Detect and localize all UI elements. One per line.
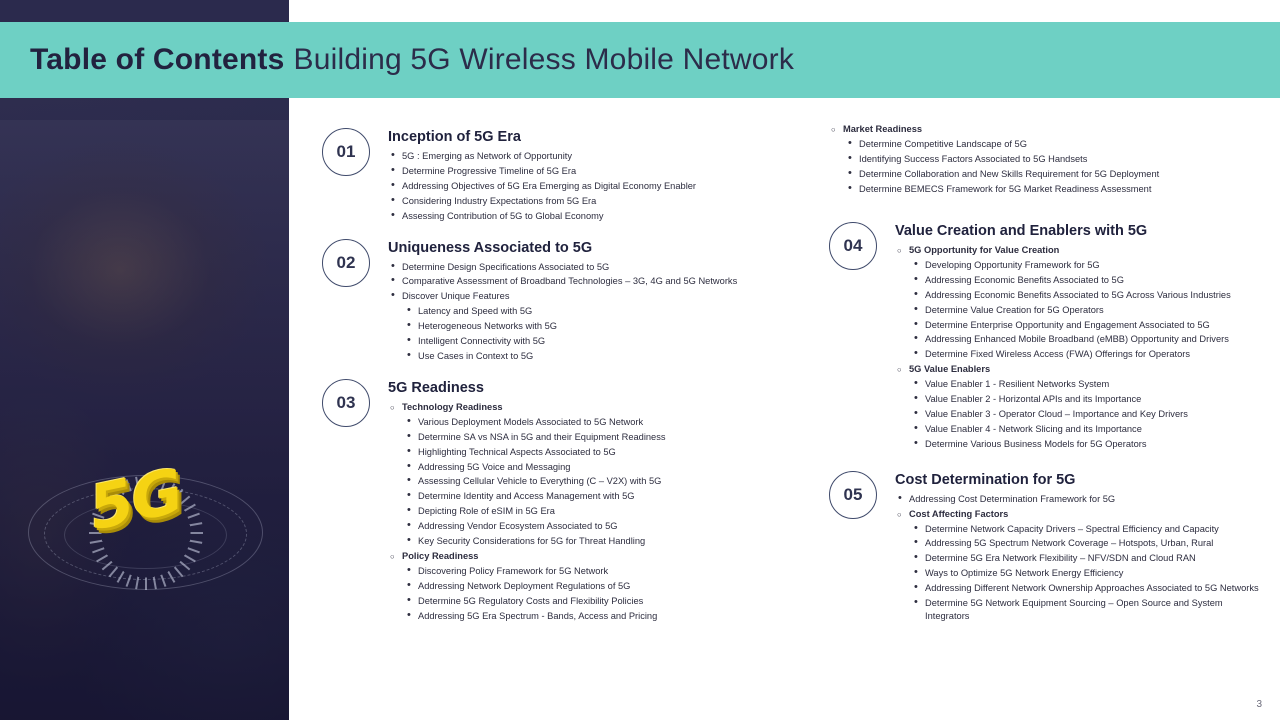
section-number-badge: 05 (829, 471, 877, 519)
toc-item[interactable]: Determine Various Business Models for 5G… (895, 438, 1259, 451)
toc-item[interactable]: Intelligent Connectivity with 5G (388, 335, 762, 348)
toc-item[interactable]: Determine Value Creation for 5G Operator… (895, 304, 1259, 317)
toc-item[interactable]: Determine 5G Network Equipment Sourcing … (895, 597, 1259, 624)
toc-item[interactable]: Value Enabler 2 - Horizontal APIs and it… (895, 393, 1259, 406)
toc-item[interactable]: Value Enabler 4 - Network Slicing and it… (895, 423, 1259, 436)
toc-item[interactable]: Addressing Different Network Ownership A… (895, 582, 1259, 595)
toc-section-body: 5G ReadinessTechnology ReadinessVarious … (388, 379, 762, 625)
slide-content: 01Inception of 5G Era5G : Emerging as Ne… (289, 98, 1280, 720)
toc-item[interactable]: Determine Identity and Access Management… (388, 490, 762, 503)
toc-section-header: 035G ReadinessTechnology ReadinessVariou… (322, 379, 762, 625)
toc-item[interactable]: Value Enabler 1 - Resilient Networks Sys… (895, 378, 1259, 391)
page-number: 3 (1256, 699, 1262, 710)
section-number-badge: 02 (322, 239, 370, 287)
toc-item[interactable]: Determine 5G Era Network Flexibility – N… (895, 552, 1259, 565)
toc-item[interactable]: Determine BEMECS Framework for 5G Market… (829, 183, 1259, 196)
toc-item[interactable]: Determine Collaboration and New Skills R… (829, 168, 1259, 181)
page-subtitle: Building 5G Wireless Mobile Network (294, 43, 795, 77)
toc-item[interactable]: Addressing 5G Era Spectrum - Bands, Acce… (388, 610, 762, 623)
left-image-panel: 5G (0, 0, 289, 720)
toc-item[interactable]: 5G Opportunity for Value Creation (895, 244, 1259, 257)
toc-item[interactable]: Discover Unique Features (388, 290, 762, 303)
toc-column-left: 01Inception of 5G Era5G : Emerging as Ne… (322, 128, 762, 638)
toc-item[interactable]: Latency and Speed with 5G (388, 305, 762, 318)
toc-item[interactable]: Value Enabler 3 - Operator Cloud – Impor… (895, 408, 1259, 421)
toc-item[interactable]: Developing Opportunity Framework for 5G (895, 259, 1259, 272)
toc-item-list: Market ReadinessDetermine Competitive La… (829, 123, 1259, 196)
toc-item[interactable]: Determine Competitive Landscape of 5G (829, 138, 1259, 151)
toc-item[interactable]: Assessing Contribution of 5G to Global E… (388, 210, 762, 223)
toc-item[interactable]: 5G : Emerging as Network of Opportunity (388, 150, 762, 163)
toc-item[interactable]: Depicting Role of eSIM in 5G Era (388, 505, 762, 518)
toc-item[interactable]: Determine SA vs NSA in 5G and their Equi… (388, 431, 762, 444)
toc-item[interactable]: Comparative Assessment of Broadband Tech… (388, 275, 762, 288)
toc-section: 035G ReadinessTechnology ReadinessVariou… (322, 379, 762, 625)
toc-item[interactable]: Addressing 5G Spectrum Network Coverage … (895, 537, 1259, 550)
toc-item[interactable]: Market Readiness (829, 123, 1259, 136)
slide-header: Table of Contents Building 5G Wireless M… (0, 22, 1280, 98)
toc-section-header: 01Inception of 5G Era5G : Emerging as Ne… (322, 128, 762, 225)
toc-item[interactable]: Addressing Vendor Ecosystem Associated t… (388, 520, 762, 533)
toc-item[interactable]: Determine Network Capacity Drivers – Spe… (895, 523, 1259, 536)
toc-section: 05Cost Determination for 5GAddressing Co… (829, 471, 1259, 626)
toc-item[interactable]: Identifying Success Factors Associated t… (829, 153, 1259, 166)
toc-item[interactable]: Various Deployment Models Associated to … (388, 416, 762, 429)
section-number-badge: 03 (322, 379, 370, 427)
toc-section-header: 02Uniqueness Associated to 5GDetermine D… (322, 239, 762, 365)
toc-item[interactable]: Addressing Network Deployment Regulation… (388, 580, 762, 593)
top-band (0, 0, 289, 22)
5g-logo-graphic: 5G (28, 455, 263, 605)
toc-section-title[interactable]: Cost Determination for 5G (895, 472, 1259, 488)
section-number-badge: 01 (322, 128, 370, 176)
toc-item[interactable]: Determine 5G Regulatory Costs and Flexib… (388, 595, 762, 608)
page-title: Table of Contents (30, 43, 285, 77)
toc-section-body: Cost Determination for 5GAddressing Cost… (895, 471, 1259, 626)
toc-item[interactable]: Policy Readiness (388, 550, 762, 563)
toc-item[interactable]: Determine Design Specifications Associat… (388, 261, 762, 274)
toc-item-list: 5G Opportunity for Value CreationDevelop… (895, 244, 1259, 451)
toc-item[interactable]: Addressing Objectives of 5G Era Emerging… (388, 180, 762, 193)
toc-section-continued: Market ReadinessDetermine Competitive La… (829, 123, 1259, 196)
toc-section-title[interactable]: 5G Readiness (388, 380, 762, 396)
photo-overlay (0, 0, 289, 720)
toc-item-list: Technology ReadinessVarious Deployment M… (388, 401, 762, 623)
toc-item[interactable]: Addressing 5G Voice and Messaging (388, 461, 762, 474)
toc-item[interactable]: Determine Fixed Wireless Access (FWA) Of… (895, 348, 1259, 361)
toc-item-list: 5G : Emerging as Network of OpportunityD… (388, 150, 762, 223)
toc-section-header: 04Value Creation and Enablers with 5G5G … (829, 222, 1259, 453)
toc-item[interactable]: Key Security Considerations for 5G for T… (388, 535, 762, 548)
toc-item[interactable]: Highlighting Technical Aspects Associate… (388, 446, 762, 459)
toc-item-list: Determine Design Specifications Associat… (388, 261, 762, 364)
toc-section-body: Value Creation and Enablers with 5G5G Op… (895, 222, 1259, 453)
toc-item[interactable]: Considering Industry Expectations from 5… (388, 195, 762, 208)
toc-section-header: 05Cost Determination for 5GAddressing Co… (829, 471, 1259, 626)
toc-section-title[interactable]: Uniqueness Associated to 5G (388, 240, 762, 256)
toc-item[interactable]: Cost Affecting Factors (895, 508, 1259, 521)
toc-item[interactable]: Discovering Policy Framework for 5G Netw… (388, 565, 762, 578)
toc-section-body: Inception of 5G Era5G : Emerging as Netw… (388, 128, 762, 225)
toc-section-title[interactable]: Value Creation and Enablers with 5G (895, 223, 1259, 239)
toc-item[interactable]: Technology Readiness (388, 401, 762, 414)
toc-section: 04Value Creation and Enablers with 5G5G … (829, 222, 1259, 453)
toc-item[interactable]: Determine Progressive Timeline of 5G Era (388, 165, 762, 178)
toc-item[interactable]: Ways to Optimize 5G Network Energy Effic… (895, 567, 1259, 580)
toc-item[interactable]: 5G Value Enablers (895, 363, 1259, 376)
toc-section: 01Inception of 5G Era5G : Emerging as Ne… (322, 128, 762, 225)
toc-item[interactable]: Use Cases in Context to 5G (388, 350, 762, 363)
toc-section: 02Uniqueness Associated to 5GDetermine D… (322, 239, 762, 365)
toc-item[interactable]: Addressing Cost Determination Framework … (895, 493, 1259, 506)
toc-section-title[interactable]: Inception of 5G Era (388, 129, 762, 145)
toc-item[interactable]: Addressing Economic Benefits Associated … (895, 274, 1259, 287)
toc-item-list: Addressing Cost Determination Framework … (895, 493, 1259, 624)
section-number-badge: 04 (829, 222, 877, 270)
toc-item[interactable]: Addressing Economic Benefits Associated … (895, 289, 1259, 302)
toc-item[interactable]: Assessing Cellular Vehicle to Everything… (388, 475, 762, 488)
header-title-group: Table of Contents Building 5G Wireless M… (30, 22, 794, 98)
toc-section-body: Uniqueness Associated to 5GDetermine Des… (388, 239, 762, 365)
slide: 5G Table of Contents Building 5G Wireles… (0, 0, 1280, 720)
toc-item[interactable]: Determine Enterprise Opportunity and Eng… (895, 319, 1259, 332)
toc-item[interactable]: Addressing Enhanced Mobile Broadband (eM… (895, 333, 1259, 346)
toc-column-right: Market ReadinessDetermine Competitive La… (829, 123, 1259, 639)
toc-item[interactable]: Heterogeneous Networks with 5G (388, 320, 762, 333)
